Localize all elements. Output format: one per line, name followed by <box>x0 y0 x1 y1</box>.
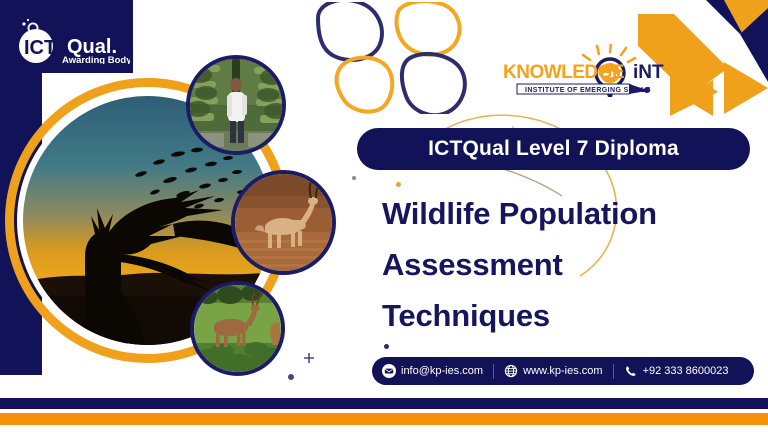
contact-phone-text: +92 333 8600023 <box>643 365 729 377</box>
contact-website[interactable]: www.kp-ies.com <box>494 364 612 378</box>
course-level-banner: ICTQual Level 7 Diploma <box>357 128 750 170</box>
dot-decor <box>352 176 356 180</box>
ictqual-tagline: Awarding Body <box>62 55 130 64</box>
contact-phone[interactable]: +92 333 8600023 <box>614 364 739 378</box>
banner-canvas: ICT Qual. Awarding Body KNOWLEDGE iNT <box>0 0 768 432</box>
contact-website-text: www.kp-ies.com <box>523 365 602 377</box>
dot-decor <box>396 182 401 187</box>
dot-decor <box>384 344 389 349</box>
kp-word-primary: KNOWLEDGE <box>503 62 624 83</box>
globe-icon <box>504 364 518 378</box>
envelope-icon <box>382 364 396 378</box>
ictqual-mark-text: ICT <box>24 37 56 59</box>
page-title-line-3: Techniques <box>382 290 762 341</box>
researcher-greenhouse-photo <box>186 55 286 155</box>
dot-decor <box>288 374 294 380</box>
contact-bar: info@kp-ies.com www.kp-ies.com +92 333 8… <box>372 357 754 385</box>
gazelle-savanna-photo <box>231 170 336 275</box>
course-level-label: ICTQual Level 7 Diploma <box>428 137 679 161</box>
kp-word-secondary: iNT <box>633 62 664 83</box>
kp-tagline: INSTITUTE OF EMERGING SKILLS <box>525 87 651 94</box>
knowledge-point-logo: KNOWLEDGE iNT INSTITUTE OF EMERGING SKIL… <box>497 44 669 104</box>
phone-icon <box>624 364 638 378</box>
bottom-navy-stripe <box>0 398 768 409</box>
deer-grassland-photo <box>190 281 285 376</box>
page-title-line-2: Assessment <box>382 239 762 290</box>
plus-decor-icon <box>304 350 314 368</box>
ictqual-logo: ICT Qual. Awarding Body <box>10 16 130 64</box>
contact-email-text: info@kp-ies.com <box>401 365 483 377</box>
page-title-line-1: Wildlife Population <box>382 188 762 239</box>
petal-decor <box>292 2 476 114</box>
contact-email[interactable]: info@kp-ies.com <box>372 364 493 378</box>
page-title: Wildlife Population Assessment Technique… <box>382 188 762 341</box>
bottom-orange-stripe <box>0 413 768 425</box>
